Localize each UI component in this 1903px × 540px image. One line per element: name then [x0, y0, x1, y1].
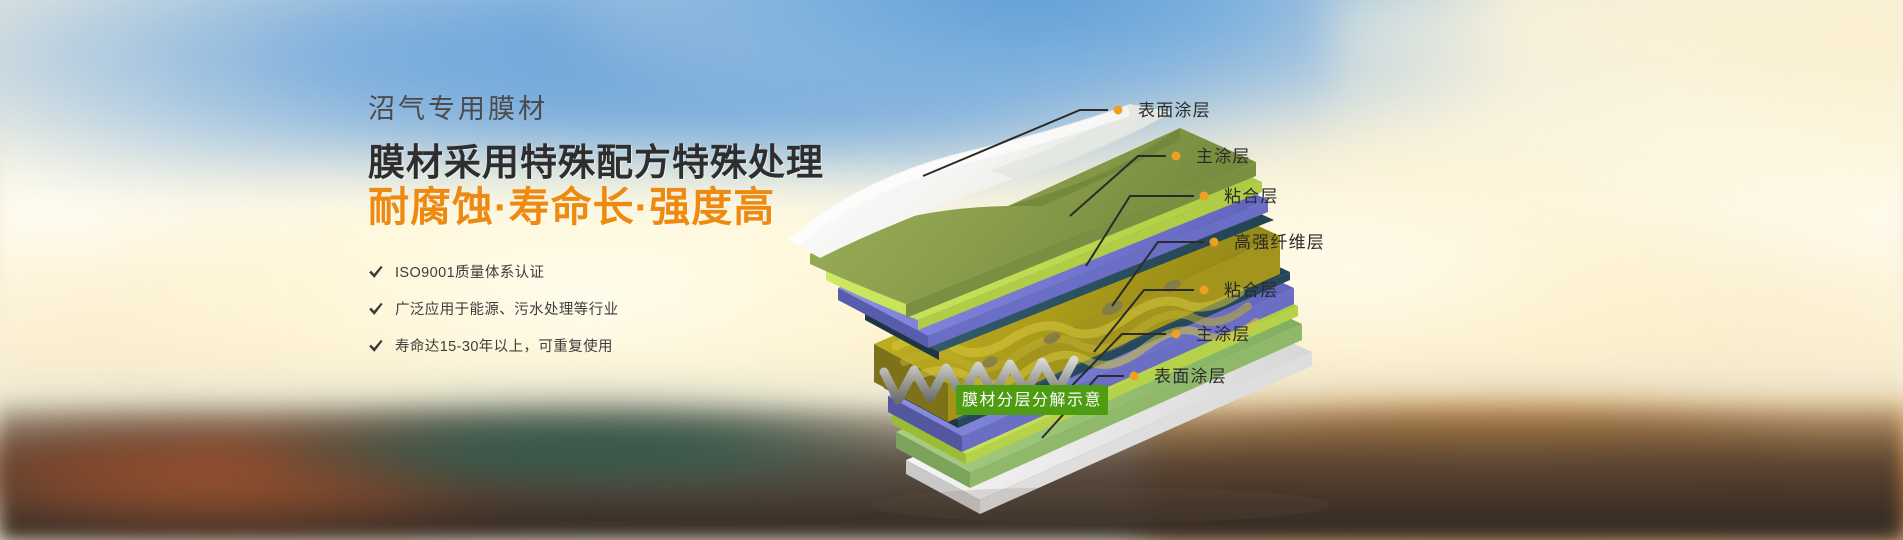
callout-label-2: 主涂层	[1196, 147, 1251, 166]
callout-dot-2	[1172, 152, 1181, 161]
banner-headline: 膜材采用特殊配方特殊处理	[368, 142, 838, 183]
feature-item: 广泛应用于能源、污水处理等行业	[368, 302, 838, 318]
callout-label-4: 高强纤维层	[1234, 233, 1325, 252]
feature-item: 寿命达15-30年以上，可重复使用	[368, 339, 838, 355]
check-icon	[368, 339, 384, 355]
callout-label-7: 表面涂层	[1154, 367, 1227, 386]
banner-headline-accent: 耐腐蚀·寿命长·强度高	[368, 185, 838, 231]
callout-label-6: 主涂层	[1196, 325, 1251, 344]
callout-label-3: 粘合层	[1224, 187, 1279, 206]
membrane-layer-diagram: 表面涂层 主涂层 粘合层 高强纤维层	[660, 0, 1903, 540]
layer-stack	[788, 104, 1330, 523]
badge-label: 膜材分层分解示意	[962, 390, 1102, 409]
banner-kicker: 沼气专用膜材	[368, 96, 838, 123]
feature-item: ISO9001质量体系认证	[368, 265, 838, 281]
callout-dot-4	[1210, 238, 1219, 247]
diagram-badge: 膜材分层分解示意	[956, 385, 1108, 415]
callout-dot-5	[1200, 286, 1209, 295]
callout-dot-3	[1200, 192, 1209, 201]
hero-banner: 沼气专用膜材 膜材采用特殊配方特殊处理 耐腐蚀·寿命长·强度高 ISO9001质…	[0, 0, 1903, 540]
callout-dot-6	[1172, 330, 1181, 339]
feature-label: ISO9001质量体系认证	[395, 266, 544, 281]
callout-label-1: 表面涂层	[1138, 101, 1211, 120]
feature-label: 广泛应用于能源、污水处理等行业	[395, 303, 619, 318]
feature-label: 寿命达15-30年以上，可重复使用	[395, 340, 613, 355]
check-icon	[368, 265, 384, 281]
callout-label-5: 粘合层	[1224, 281, 1279, 300]
feature-list: ISO9001质量体系认证 广泛应用于能源、污水处理等行业 寿命达15-30年以…	[368, 265, 838, 355]
banner-copy: 沼气专用膜材 膜材采用特殊配方特殊处理 耐腐蚀·寿命长·强度高 ISO9001质…	[368, 96, 838, 376]
callout-dot-7	[1130, 372, 1139, 381]
check-icon	[368, 302, 384, 318]
callout-dot-1	[1114, 106, 1123, 115]
